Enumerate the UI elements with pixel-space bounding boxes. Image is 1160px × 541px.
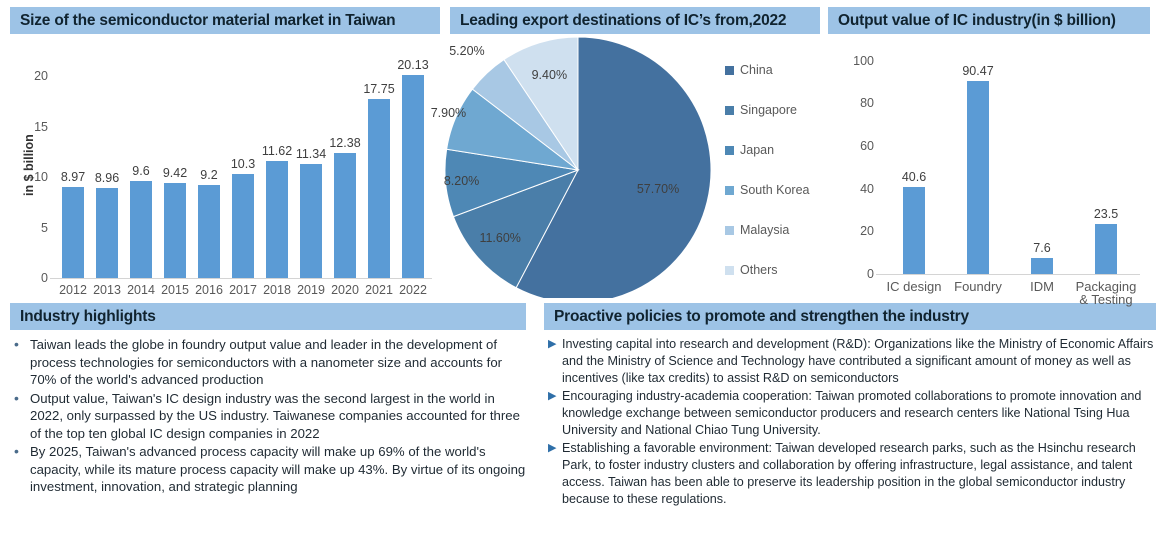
bullet-dot-icon: • [14,443,30,460]
chart-y-tick: 0 [828,267,874,281]
pie-svg [445,36,725,298]
pie-legend-swatch [725,66,734,75]
pie-legend-label: Japan [740,143,774,157]
chart-bar [334,153,355,278]
pie-legend-swatch [725,106,734,115]
pie-legend-item: Others [725,250,820,290]
infographic-page: Size of the semiconductor material marke… [0,0,1160,541]
panel-header-market-size: Size of the semiconductor material marke… [10,7,440,34]
bullet-triangle-icon: ▶ [548,388,562,405]
chart-bar [368,99,389,278]
chart-bar [402,75,423,278]
pie-legend-item: Japan [725,130,820,170]
list-item-text: Output value, Taiwan's IC design industr… [30,390,526,443]
pie-legend-item: Malaysia [725,210,820,250]
proactive-policies-title: Proactive policies to promote and streng… [554,308,969,326]
panel-header-industry-highlights: Industry highlights [10,303,526,330]
proactive-policies-list: ▶Investing capital into research and dev… [548,336,1154,509]
list-item: ▶Encouraging industry-academia cooperati… [548,388,1154,439]
pie-legend-swatch [725,146,734,155]
chart-bar [62,187,83,278]
list-item: •Taiwan leads the globe in foundry outpu… [14,336,526,389]
exports-title: Leading export destinations of IC’s from… [460,12,786,30]
industry-highlights-list: •Taiwan leads the globe in foundry outpu… [14,336,526,497]
output-value-bar-chart: 02040608010040.6IC design90.47Foundry7.6… [828,36,1150,298]
pie-legend-item: China [725,50,820,90]
chart-bar [967,81,988,274]
list-item-text: By 2025, Taiwan's advanced process capac… [30,443,526,496]
chart-bar-value-label: 40.6 [880,170,948,184]
chart-y-tick: 5 [2,221,48,235]
chart-bar [198,185,219,278]
chart-bar-value-label: 23.5 [1072,207,1140,221]
bullet-dot-icon: • [14,390,30,407]
market-size-title: Size of the semiconductor material marke… [20,12,395,30]
pie-slice-percentage-label: 9.40% [525,68,573,82]
output-value-title: Output value of IC industry(in $ billion… [838,12,1116,30]
chart-y-tick: 20 [2,69,48,83]
list-item-text: Establishing a favorable environment: Ta… [562,440,1154,508]
chart-bar-value-label: 7.6 [1008,241,1076,255]
chart-bar [300,164,321,278]
industry-highlights-title: Industry highlights [20,308,156,326]
chart-bar [130,181,151,278]
chart-bar [266,161,287,278]
list-item: ▶Establishing a favorable environment: T… [548,440,1154,508]
chart-baseline [50,278,432,279]
chart-y-tick: 60 [828,139,874,153]
pie-slice-percentage-label: 57.70% [634,182,682,196]
chart-y-tick: 100 [828,54,874,68]
panel-header-proactive-policies: Proactive policies to promote and streng… [544,303,1156,330]
chart-bar [232,174,253,278]
export-destinations-pie-chart: 57.70%11.60%8.20%7.90%5.20%9.40% ChinaSi… [445,36,820,298]
panel-header-output-value: Output value of IC industry(in $ billion… [828,7,1150,34]
chart-x-tick-label: Packaging& Testing [1068,280,1144,306]
bullet-triangle-icon: ▶ [548,440,562,457]
pie-slice-percentage-label: 5.20% [443,44,491,58]
chart-y-tick: 40 [828,182,874,196]
chart-x-tick-label: 2022 [390,284,436,297]
chart-bar-value-label: 90.47 [944,64,1012,78]
list-item-text: Encouraging industry-academia cooperatio… [562,388,1154,439]
pie-slice-percentage-label: 11.60% [476,231,524,245]
chart-y-tick: 15 [2,120,48,134]
chart-bar [96,188,117,278]
chart-bar [164,183,185,278]
chart1-y-axis-label: in $ billion [22,134,36,196]
pie-legend-label: China [740,63,773,77]
pie-legend: ChinaSingaporeJapanSouth KoreaMalaysiaOt… [725,50,820,290]
panel-header-exports: Leading export destinations of IC’s from… [450,7,820,34]
chart-y-tick: 80 [828,96,874,110]
bullet-dot-icon: • [14,336,30,353]
pie-legend-label: Others [740,263,778,277]
chart-bar [1031,258,1052,274]
pie-legend-label: South Korea [740,183,810,197]
pie-slice-percentage-label: 7.90% [424,106,472,120]
chart-bar [1095,224,1116,274]
pie-legend-swatch [725,226,734,235]
chart-y-tick: 20 [828,224,874,238]
chart-y-tick: 0 [2,271,48,285]
pie-legend-item: South Korea [725,170,820,210]
chart-bar [903,187,924,274]
chart-baseline [876,274,1140,275]
list-item-text: Taiwan leads the globe in foundry output… [30,336,526,389]
market-size-bar-chart: in $ billion 051015208.9720128.9620139.6… [0,36,440,298]
pie-legend-item: Singapore [725,90,820,130]
pie-legend-label: Singapore [740,103,797,117]
pie-slice-percentage-label: 8.20% [438,174,486,188]
pie-legend-label: Malaysia [740,223,789,237]
list-item: •By 2025, Taiwan's advanced process capa… [14,443,526,496]
list-item: ▶Investing capital into research and dev… [548,336,1154,387]
pie-legend-swatch [725,186,734,195]
bullet-triangle-icon: ▶ [548,336,562,353]
list-item-text: Investing capital into research and deve… [562,336,1154,387]
pie-legend-swatch [725,266,734,275]
chart-bar-value-label: 20.13 [379,58,447,72]
list-item: •Output value, Taiwan's IC design indust… [14,390,526,443]
